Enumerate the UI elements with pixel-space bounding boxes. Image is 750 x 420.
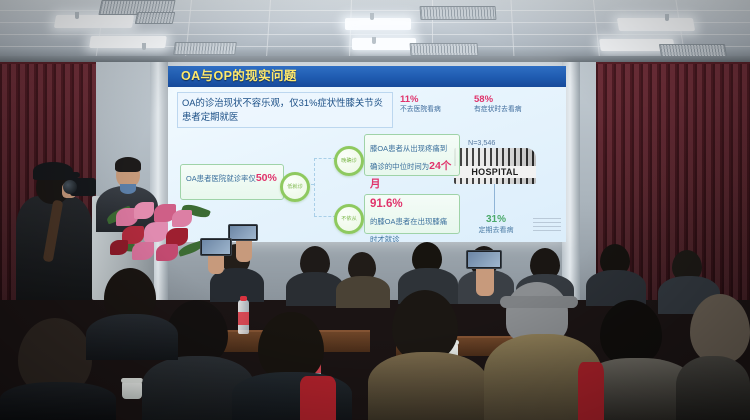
ring-late-diagnosis-label: 晚确诊 <box>341 158 357 164</box>
ceiling-light-panel <box>352 38 416 50</box>
sprinkler-head <box>665 14 669 21</box>
flower-bouquet <box>104 196 214 268</box>
slide-box-adherence: 91.6% 的膝OA患者在出现膝痛时才就诊 <box>364 194 460 234</box>
ceiling-air-vent <box>410 43 479 56</box>
slide-title: OA与OP的现实问题 <box>168 66 566 87</box>
ceiling-light-panel <box>54 15 134 28</box>
smartphone-screen <box>468 252 500 267</box>
audience-shoulders-foreground <box>676 356 750 420</box>
stat-regular-visit-label: 定期去看病 <box>468 226 524 235</box>
audience-shoulders-foreground <box>0 382 116 420</box>
speaker-hair <box>115 157 141 172</box>
ring-poor-adherence: 不依从 <box>334 204 364 234</box>
stat-no-hospital: 11% 不去医院看病 <box>400 94 441 114</box>
ceiling-air-vent <box>135 12 176 24</box>
slide-box-low-visit-rate: OA患者医院就诊率仅50% <box>180 164 284 200</box>
smartphone-raised[interactable] <box>466 250 502 269</box>
flow-connector <box>314 216 336 217</box>
hospital-connector-line <box>494 184 495 214</box>
audience-head-foreground <box>600 300 662 366</box>
slide-box-low-visit-highlight: 50% <box>256 172 277 184</box>
presentation-slide: OA与OP的现实问题 OA的诊治现状不容乐观，仅31%症状性膝关节炎患者定期就医… <box>168 66 566 242</box>
audience-shoulders-foreground <box>86 314 178 360</box>
tea-cup[interactable] <box>122 382 142 399</box>
stat-symptomatic-visit-value: 58% <box>474 94 522 105</box>
sprinkler-head <box>370 13 374 20</box>
stat-no-hospital-value: 11% <box>400 94 441 105</box>
decorative-lines <box>533 218 561 234</box>
stat-no-hospital-label: 不去医院看病 <box>400 105 441 114</box>
slide-box-diagnosis-delay: 膝OA患者从出现疼痛到确诊的中位时间为24个月 <box>364 134 460 176</box>
smartphone-screen <box>202 240 230 254</box>
stat-regular-visit: 31% 定期去看病 <box>468 214 524 235</box>
slide-box-adherence-highlight: 91.6% <box>370 198 454 211</box>
audience-head-foreground <box>690 294 750 364</box>
stat-regular-visit-value: 31% <box>468 214 524 226</box>
ceiling-air-vent <box>420 6 497 20</box>
ceiling-light-panel <box>345 18 411 30</box>
ring-poor-adherence-label: 不依从 <box>341 216 357 222</box>
slide-box-adherence-text: 的膝OA患者在出现膝痛时才就诊 <box>370 217 447 242</box>
smartphone-raised[interactable] <box>228 224 258 241</box>
ceiling-light-panel <box>617 18 695 31</box>
flow-connector <box>314 158 315 216</box>
sprinkler-head <box>142 43 146 50</box>
flat-cap-brim <box>500 296 578 308</box>
flow-connector <box>314 158 336 159</box>
ceiling-light-panel <box>89 36 167 48</box>
red-scarf <box>578 362 604 420</box>
sample-size-label: N=3,546 <box>468 138 495 147</box>
sprinkler-head <box>372 37 376 44</box>
smartphone-raised[interactable] <box>200 238 232 256</box>
water-bottle[interactable] <box>238 300 249 334</box>
sprinkler-head <box>75 12 79 19</box>
speaker-shirt-collar <box>120 184 136 194</box>
audience-head-foreground <box>506 282 568 342</box>
red-scarf <box>300 376 336 420</box>
ring-late-diagnosis: 晚确诊 <box>334 146 364 176</box>
hospital-building-image: ✚ HOSPITAL <box>454 148 536 184</box>
stat-symptomatic-visit: 58% 有症状时去看病 <box>474 94 522 114</box>
ring-low-visit: 低就诊 <box>280 172 310 202</box>
slide-box-low-visit-text: OA患者医院就诊率仅 <box>186 174 256 183</box>
audience-shoulders-foreground <box>368 352 488 420</box>
ceiling <box>0 0 750 62</box>
hospital-sign-text: HOSPITAL <box>454 166 536 178</box>
ring-low-visit-label: 低就诊 <box>287 184 303 190</box>
audience-shoulders <box>336 276 390 308</box>
smartphone-screen <box>230 226 256 239</box>
conference-room-photo: OA与OP的现实问题 OA的诊治现状不容乐观，仅31%症状性膝关节炎患者定期就医… <box>0 0 750 420</box>
camera <box>70 178 96 196</box>
slide-lede-text: OA的诊治现状不容乐观，仅31%症状性膝关节炎患者定期就医 <box>177 92 393 128</box>
stat-symptomatic-visit-label: 有症状时去看病 <box>474 105 522 114</box>
ceiling-air-vent <box>173 42 237 55</box>
